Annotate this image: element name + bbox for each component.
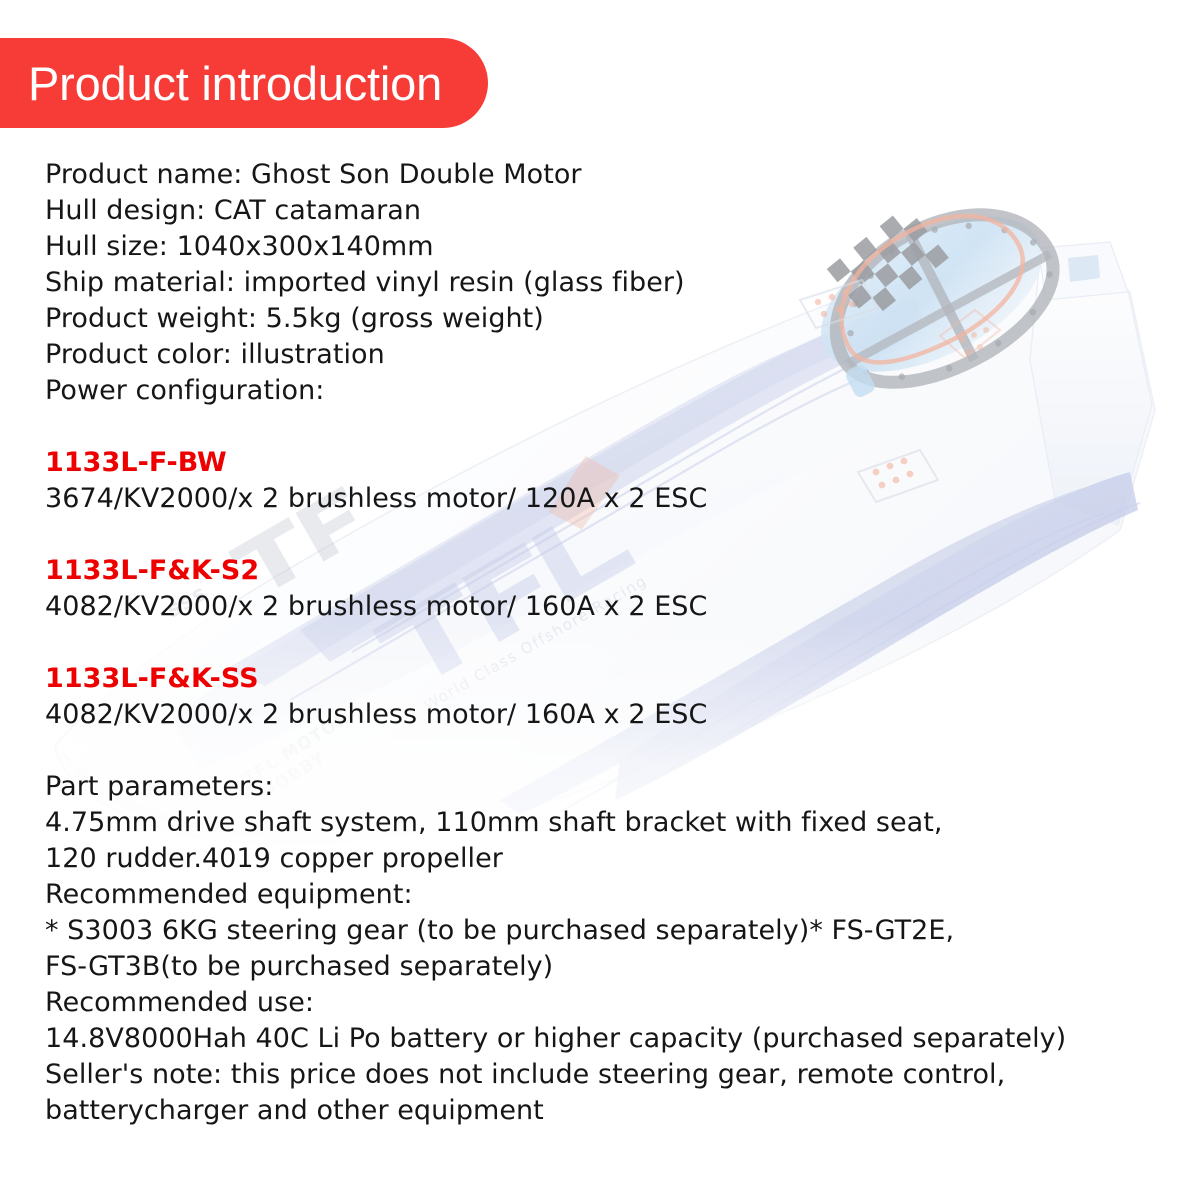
detail-list: Part parameters: 4.75mm drive shaft syst… [45,769,1160,1129]
spacer [45,517,1160,553]
detail-line: Seller's note: this price does not inclu… [45,1057,1160,1093]
detail-line: 120 rudder.4019 copper propeller [45,841,1160,877]
detail-line: 14.8V8000Hah 40C Li Po battery or higher… [45,1021,1160,1057]
power-option-model: 1133L-F&K-S2 [45,553,1160,589]
spec-line: Product color: illustration [45,337,1160,373]
power-option: 1133L-F&K-SS 4082/KV2000/x 2 brushless m… [45,661,1160,733]
power-option-model: 1133L-F-BW [45,445,1160,481]
power-option: 1133L-F&K-S2 4082/KV2000/x 2 brushless m… [45,553,1160,625]
detail-line: batterycharger and other equipment [45,1093,1160,1129]
detail-line: FS-GT3B(to be purchased separately) [45,949,1160,985]
spec-line: Product name: Ghost Son Double Motor [45,157,1160,193]
product-introduction-page: World Class Offshore Racing TFL MOTOR HO… [0,0,1200,1200]
detail-line: 4.75mm drive shaft system, 110mm shaft b… [45,805,1160,841]
product-details-content: Product name: Ghost Son Double Motor Hul… [45,157,1160,1129]
power-option-spec: 4082/KV2000/x 2 brushless motor/ 160A x … [45,589,1160,625]
detail-line: Part parameters: [45,769,1160,805]
spacer [45,733,1160,769]
spacer [45,625,1160,661]
detail-line: Recommended use: [45,985,1160,1021]
power-option-spec: 4082/KV2000/x 2 brushless motor/ 160A x … [45,697,1160,733]
power-option: 1133L-F-BW 3674/KV2000/x 2 brushless mot… [45,445,1160,517]
power-option-model: 1133L-F&K-SS [45,661,1160,697]
spec-line: Hull size: 1040x300x140mm [45,229,1160,265]
spec-line: Product weight: 5.5kg (gross weight) [45,301,1160,337]
detail-line: * S3003 6KG steering gear (to be purchas… [45,913,1160,949]
detail-line: Recommended equipment: [45,877,1160,913]
page-title: Product introduction [28,60,442,107]
spec-list: Product name: Ghost Son Double Motor Hul… [45,157,1160,409]
spec-line: Power configuration: [45,373,1160,409]
power-option-spec: 3674/KV2000/x 2 brushless motor/ 120A x … [45,481,1160,517]
spacer [45,409,1160,445]
header-banner: Product introduction [0,38,488,128]
spec-line: Hull design: CAT catamaran [45,193,1160,229]
spec-line: Ship material: imported vinyl resin (gla… [45,265,1160,301]
